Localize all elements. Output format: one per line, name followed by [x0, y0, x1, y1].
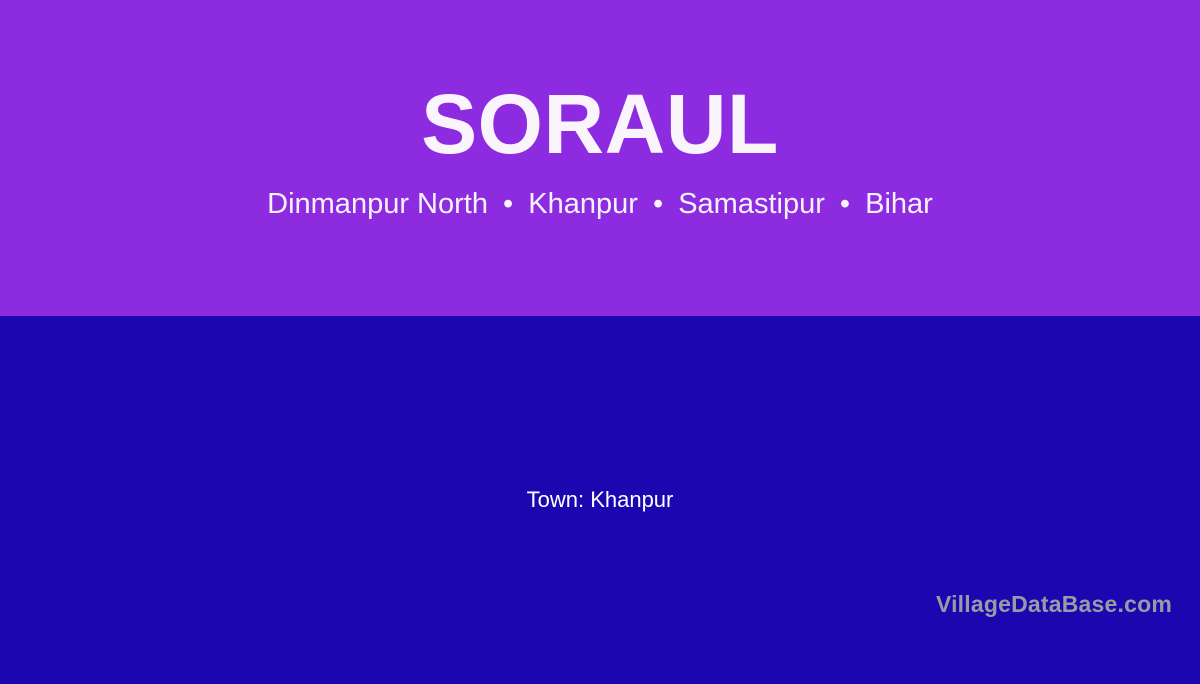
village-info-card: SORAUL Dinmanpur North • Khanpur • Samas…: [0, 0, 1200, 630]
breadcrumb-separator: •: [496, 186, 520, 222]
breadcrumb-item-village: Dinmanpur North: [267, 188, 488, 220]
blue-body-area: Town: Khanpur VillageDataBase.com: [0, 316, 1200, 630]
breadcrumb-item-town: Khanpur: [528, 188, 638, 220]
breadcrumb: Dinmanpur North • Khanpur • Samastipur •…: [267, 186, 933, 222]
breadcrumb-item-district: Samastipur: [678, 188, 825, 220]
body-content-center: Town: Khanpur: [0, 316, 1200, 684]
breadcrumb-separator: •: [833, 186, 857, 222]
breadcrumb-item-state: Bihar: [865, 188, 933, 220]
site-watermark: VillageDataBase.com: [936, 590, 1172, 618]
page-title: SORAUL: [421, 76, 779, 172]
breadcrumb-separator: •: [646, 186, 670, 222]
purple-banner: SORAUL Dinmanpur North • Khanpur • Samas…: [0, 0, 1200, 316]
town-detail-text: Town: Khanpur: [527, 485, 674, 515]
